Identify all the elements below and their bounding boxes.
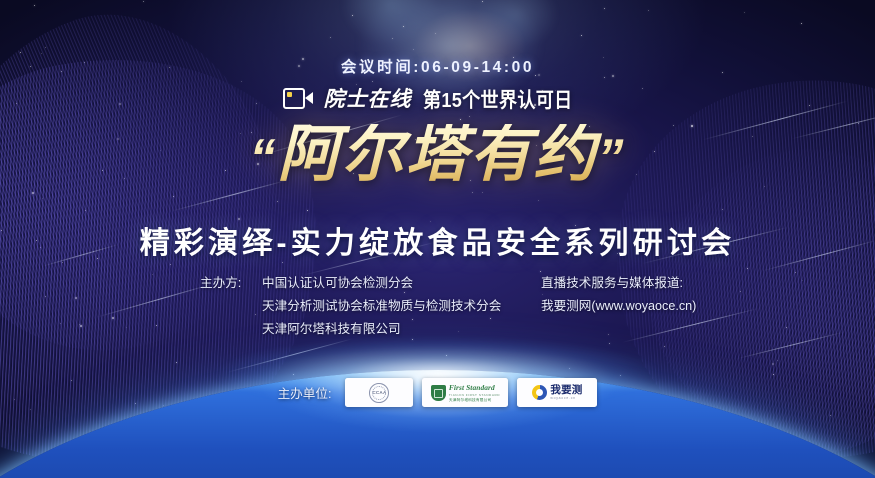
first-standard-name: First Standard xyxy=(449,383,500,392)
organizer-name: 天津阿尔塔科技有限公司 xyxy=(262,318,401,341)
logo-card-first-standard: First Standard TIANJIN FIRST STANDARD 天津… xyxy=(422,378,508,407)
organizer-line: 天津分析测试协会标准物质与检测技术分会 xyxy=(200,295,501,318)
ccaa-seal-text: CCAA xyxy=(372,390,386,395)
organizers-block: 主办方: 中国认证认可协会检测分会 天津分析测试协会标准物质与检测技术分会 天津… xyxy=(200,272,501,341)
logo-card-woyaoce: 我要测 woyaoce.cn xyxy=(517,378,597,407)
woyaoce-name-en: woyaoce.cn xyxy=(550,396,575,400)
media-value[interactable]: 我要测网(www.woyaoce.cn) xyxy=(541,295,696,318)
live-banner: 院士在线 第15个世界认可日 xyxy=(0,83,875,113)
units-label: 主办单位: xyxy=(278,383,332,402)
info-section: 主办方: 中国认证认可协会检测分会 天津分析测试协会标准物质与检测技术分会 天津… xyxy=(0,272,875,347)
page-title: “阿尔塔有约” xyxy=(0,124,875,186)
video-camera-icon xyxy=(283,88,313,109)
organizer-name: 中国认证认可协会检测分会 xyxy=(262,272,413,295)
spacer xyxy=(200,318,262,341)
woyaoce-text: 我要测 woyaoce.cn xyxy=(550,385,582,400)
ccaa-seal-icon: CCAA xyxy=(369,383,389,403)
world-accreditation-day-label: 第15个世界认可日 xyxy=(423,83,573,113)
first-standard-logo: First Standard TIANJIN FIRST STANDARD 天津… xyxy=(431,383,500,403)
main-title-text: 阿尔塔有约 xyxy=(277,120,597,189)
organizer-name: 天津分析测试协会标准物质与检测技术分会 xyxy=(262,295,501,318)
organizer-line: 天津阿尔塔科技有限公司 xyxy=(200,318,501,341)
media-label: 直播技术服务与媒体报道: xyxy=(541,272,696,295)
woyaoce-logo: 我要测 woyaoce.cn xyxy=(532,385,582,400)
first-standard-name-en: TIANJIN FIRST STANDARD xyxy=(449,393,500,397)
meeting-time: 会议时间:06-09-14:00 xyxy=(0,55,875,77)
organizers-label: 主办方: xyxy=(200,272,262,295)
live-label: 院士在线 xyxy=(324,83,412,113)
sponsor-units-row: 主办单位: CCAA First Standard TIANJIN FIRST … xyxy=(0,378,875,407)
event-poster: 会议时间:06-09-14:00 院士在线 第15个世界认可日 “阿尔塔有约” … xyxy=(0,0,875,478)
quote-close: ” xyxy=(598,129,626,187)
spacer xyxy=(200,295,262,318)
woyaoce-circle-icon xyxy=(532,385,547,400)
woyaoce-name-cn: 我要测 xyxy=(550,385,582,396)
first-standard-name-cn: 天津阿尔塔科技有限公司 xyxy=(449,398,500,403)
poster-content: 会议时间:06-09-14:00 院士在线 第15个世界认可日 “阿尔塔有约” … xyxy=(0,0,875,478)
organizer-line: 主办方: 中国认证认可协会检测分会 xyxy=(200,272,501,295)
logo-card-ccaa: CCAA xyxy=(345,378,413,407)
green-shield-icon xyxy=(431,385,446,401)
media-block: 直播技术服务与媒体报道: 我要测网(www.woyaoce.cn) xyxy=(541,272,696,318)
first-standard-text: First Standard TIANJIN FIRST STANDARD 天津… xyxy=(449,383,500,403)
subtitle: 精彩演绎-实力绽放食品安全系列研讨会 xyxy=(0,218,875,262)
quote-open: “ xyxy=(249,129,277,187)
